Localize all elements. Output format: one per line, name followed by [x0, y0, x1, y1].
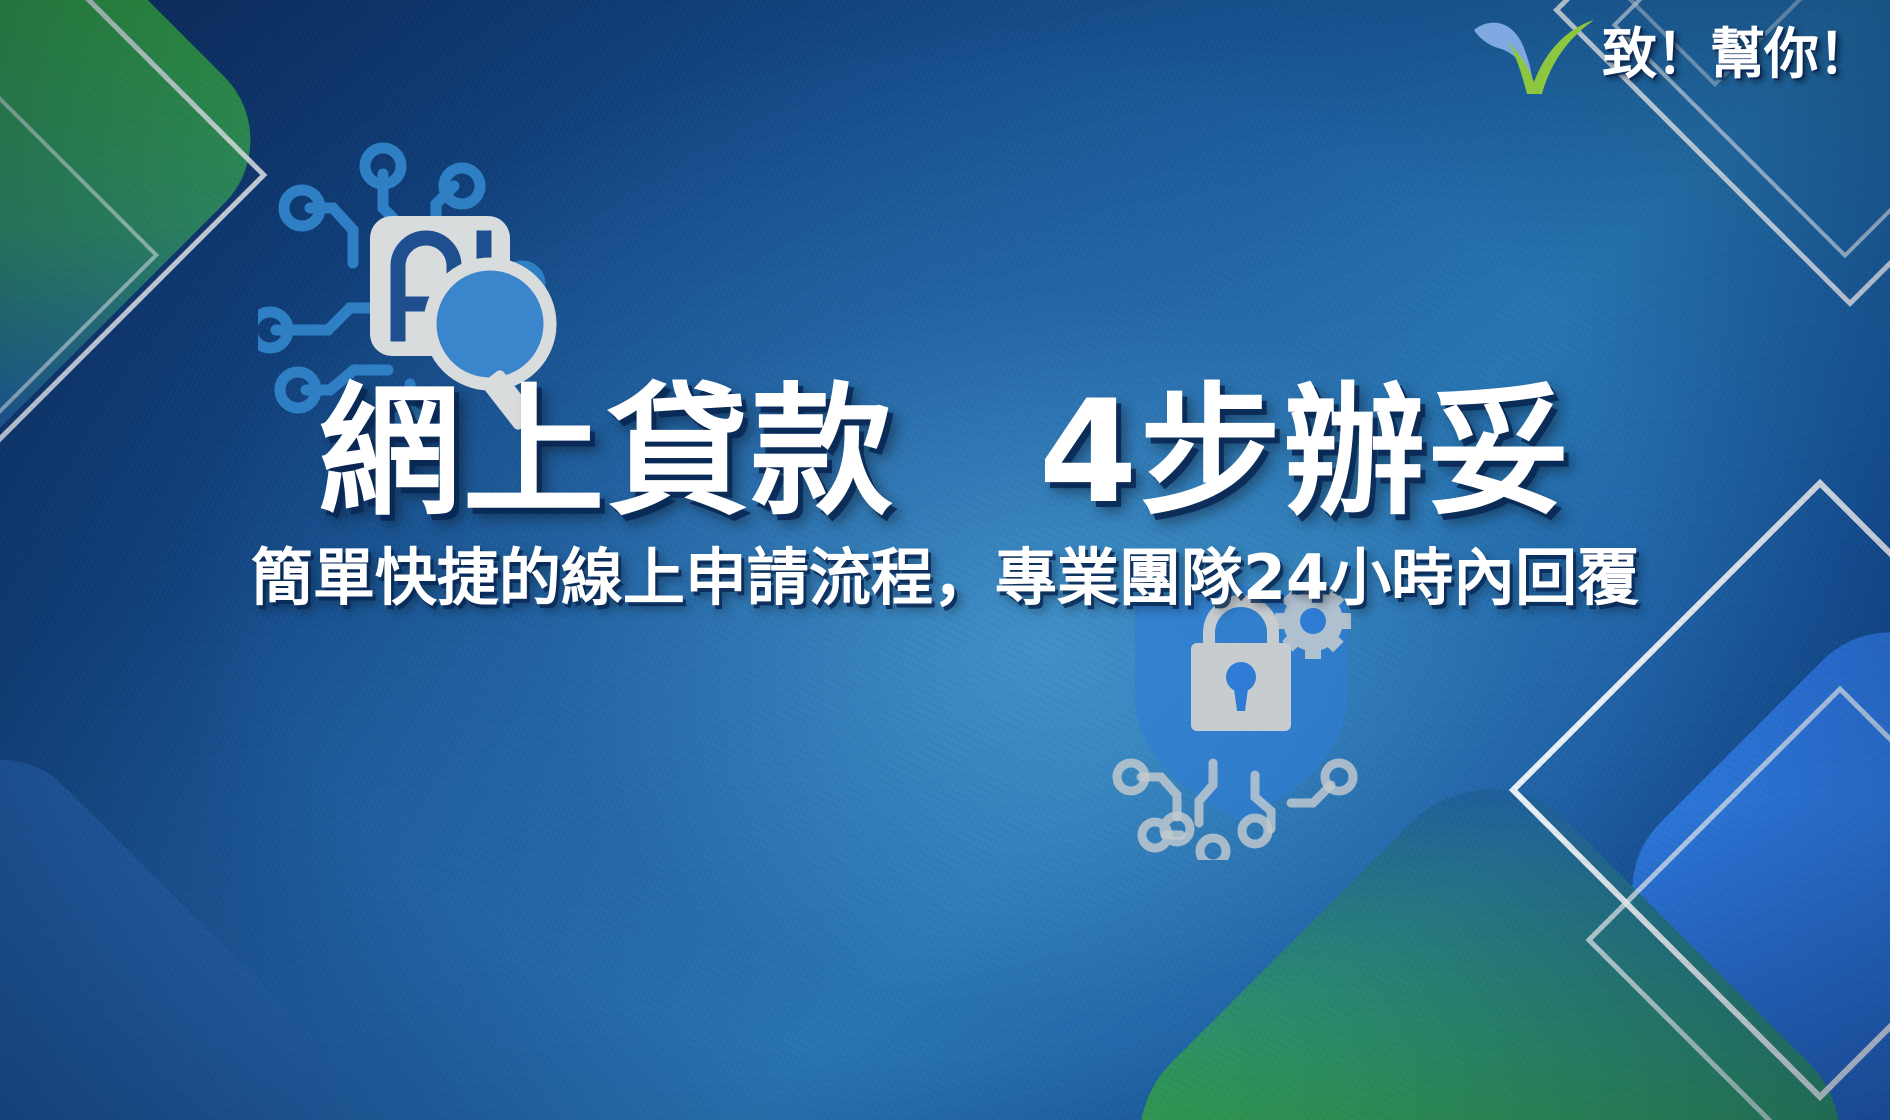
brand-logo[interactable]: 致！幫你！ — [1470, 8, 1872, 100]
checkmark-icon — [1470, 8, 1598, 100]
bottom-right-chevron-outline-2 — [1585, 685, 1890, 1120]
brand-name: 致！幫你！ — [1602, 27, 1872, 82]
bottom-right-blue-chevron-decoration — [1593, 593, 1890, 1120]
page-title: 網上貸款 4步辦妥 — [40, 378, 1850, 527]
shield-icon — [1095, 585, 1385, 860]
promo-banner: 致！幫你！ 網上貸款 4步辦妥 簡單快捷的線上申請流程，專業團隊24小時內回覆 — [0, 0, 1890, 1120]
page-subtitle: 簡單快捷的線上申請流程，專業團隊24小時內回覆 — [40, 543, 1850, 612]
headline-block: 網上貸款 4步辦妥 簡單快捷的線上申請流程，專業團隊24小時內回覆 — [0, 378, 1890, 613]
bottom-left-wedge-decoration — [0, 722, 368, 1120]
